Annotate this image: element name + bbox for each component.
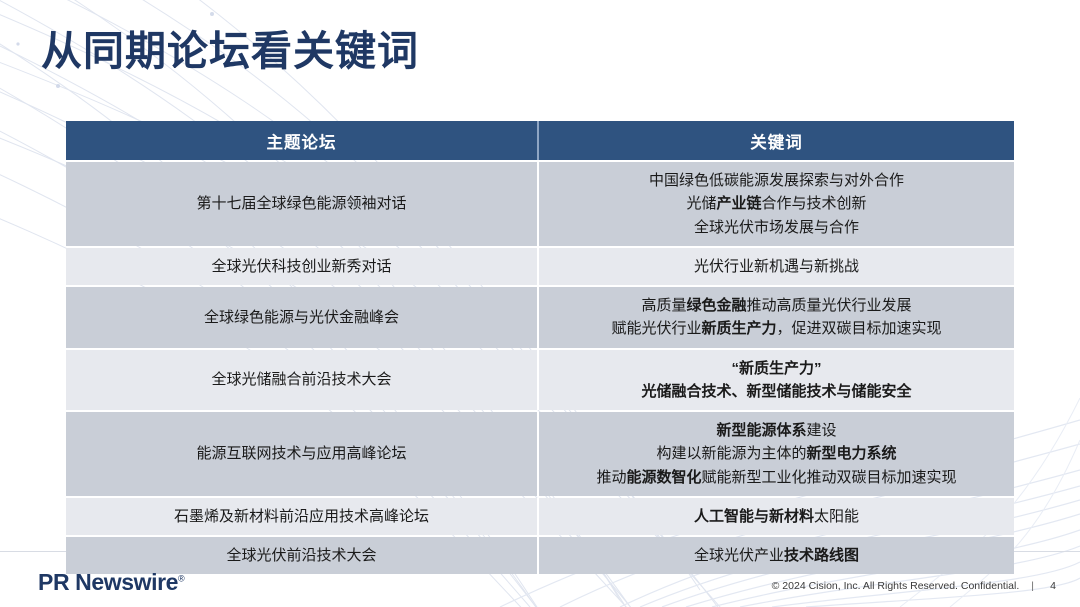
keyword-text: ，促进双碳目标加速实现 (777, 320, 942, 337)
keyword-emphasis: 绿色金融 (686, 297, 746, 314)
keyword-emphasis: 能源数智化 (626, 469, 701, 486)
footer-meta: © 2024 Cision, Inc. All Rights Reserved.… (772, 580, 1056, 592)
keyword-line: 构建以新能源为主体的新型电力系统 (545, 442, 1008, 465)
pr-newswire-logo: PR Newswire® (38, 569, 184, 596)
keyword-text: 建设 (807, 422, 837, 439)
keyword-cell: 光伏行业新机遇与新挑战 (539, 248, 1014, 285)
keyword-line: 赋能光伏行业新质生产力，促进双碳目标加速实现 (545, 317, 1008, 340)
keyword-emphasis: 新型能源体系 (716, 422, 806, 439)
keyword-text: 高质量 (641, 297, 686, 314)
keyword-emphasis: 新质生产力 (701, 320, 776, 337)
keyword-line: 光伏行业新机遇与新挑战 (545, 255, 1008, 278)
forum-name-cell: 全球光储融合前沿技术大会 (66, 350, 539, 411)
table-header-row: 主题论坛 关键词 (66, 121, 1014, 160)
forum-name-cell: 石墨烯及新材料前沿应用技术高峰论坛 (66, 498, 539, 535)
table-body: 第十七届全球绿色能源领袖对话中国绿色低碳能源发展探索与对外合作光储产业链合作与技… (66, 162, 1014, 574)
keyword-line: 光储融合技术、新型储能技术与储能安全 (545, 380, 1008, 403)
keyword-line: 人工智能与新材料太阳能 (545, 505, 1008, 528)
forum-keyword-table: 主题论坛 关键词 第十七届全球绿色能源领袖对话中国绿色低碳能源发展探索与对外合作… (66, 119, 1014, 576)
keyword-text: 合作与技术创新 (762, 195, 867, 212)
table-row: 石墨烯及新材料前沿应用技术高峰论坛人工智能与新材料太阳能 (66, 498, 1014, 535)
keyword-cell: 高质量绿色金融推动高质量光伏行业发展赋能光伏行业新质生产力，促进双碳目标加速实现 (539, 287, 1014, 348)
footer-separator: | (1031, 580, 1034, 592)
forum-name-cell: 能源互联网技术与应用高峰论坛 (66, 412, 539, 496)
keyword-text: 推动高质量光伏行业发展 (747, 297, 912, 314)
forum-name-cell: 全球绿色能源与光伏金融峰会 (66, 287, 539, 348)
keyword-emphasis: 人工智能与新材料 (694, 508, 814, 525)
keyword-text: 光伏行业新机遇与新挑战 (694, 258, 859, 275)
page-title: 从同期论坛看关键词 (41, 28, 419, 75)
logo-wordmark: PR Newswire (38, 569, 178, 595)
page-number: 4 (1046, 580, 1056, 592)
keyword-line: 推动能源数智化赋能新型工业化推动双碳目标加速实现 (545, 466, 1008, 489)
keyword-emphasis: “新质生产力” (731, 360, 821, 377)
column-header-keyword: 关键词 (539, 121, 1014, 160)
keyword-cell: 中国绿色低碳能源发展探索与对外合作光储产业链合作与技术创新全球光伏市场发展与合作 (539, 162, 1014, 246)
table-row: 能源互联网技术与应用高峰论坛新型能源体系建设构建以新能源为主体的新型电力系统推动… (66, 412, 1014, 496)
keyword-line: 高质量绿色金融推动高质量光伏行业发展 (545, 294, 1008, 317)
keyword-emphasis: 光储融合技术、新型储能技术与储能安全 (641, 383, 911, 400)
keyword-line: 光储产业链合作与技术创新 (545, 192, 1008, 215)
table-row: 全球光伏科技创业新秀对话光伏行业新机遇与新挑战 (66, 248, 1014, 285)
keyword-line: 全球光伏产业技术路线图 (545, 544, 1008, 567)
table-row: 第十七届全球绿色能源领袖对话中国绿色低碳能源发展探索与对外合作光储产业链合作与技… (66, 162, 1014, 246)
keyword-line: 中国绿色低碳能源发展探索与对外合作 (545, 169, 1008, 192)
keyword-line: 新型能源体系建设 (545, 419, 1008, 442)
keyword-emphasis: 技术路线图 (784, 547, 859, 564)
keyword-text: 全球光伏市场发展与合作 (694, 219, 859, 236)
keyword-line: 全球光伏市场发展与合作 (545, 216, 1008, 239)
forum-name-cell: 全球光伏科技创业新秀对话 (66, 248, 539, 285)
registered-mark: ® (178, 573, 184, 583)
keyword-cell: 人工智能与新材料太阳能 (539, 498, 1014, 535)
table-row: 全球光伏前沿技术大会全球光伏产业技术路线图 (66, 537, 1014, 574)
keyword-text: 赋能光伏行业 (611, 320, 701, 337)
keyword-cell: 新型能源体系建设构建以新能源为主体的新型电力系统推动能源数智化赋能新型工业化推动… (539, 412, 1014, 496)
keyword-cell: “新质生产力”光储融合技术、新型储能技术与储能安全 (539, 350, 1014, 411)
column-header-forum: 主题论坛 (66, 121, 539, 160)
keyword-text: 太阳能 (814, 508, 859, 525)
keyword-text: 光储 (686, 195, 716, 212)
keyword-text: 推动 (596, 469, 626, 486)
keyword-text: 全球光伏产业 (694, 547, 784, 564)
keyword-emphasis: 产业链 (716, 195, 761, 212)
forum-name-cell: 第十七届全球绿色能源领袖对话 (66, 162, 539, 246)
keyword-emphasis: 新型电力系统 (807, 445, 897, 462)
keyword-line: “新质生产力” (545, 357, 1008, 380)
table-row: 全球光储融合前沿技术大会“新质生产力”光储融合技术、新型储能技术与储能安全 (66, 350, 1014, 411)
keyword-text: 构建以新能源为主体的 (656, 445, 806, 462)
keyword-text: 赋能新型工业化推动双碳目标加速实现 (702, 469, 957, 486)
copyright-text: © 2024 Cision, Inc. All Rights Reserved.… (772, 580, 1020, 592)
keyword-cell: 全球光伏产业技术路线图 (539, 537, 1014, 574)
table-row: 全球绿色能源与光伏金融峰会高质量绿色金融推动高质量光伏行业发展赋能光伏行业新质生… (66, 287, 1014, 348)
keyword-text: 中国绿色低碳能源发展探索与对外合作 (649, 172, 904, 189)
